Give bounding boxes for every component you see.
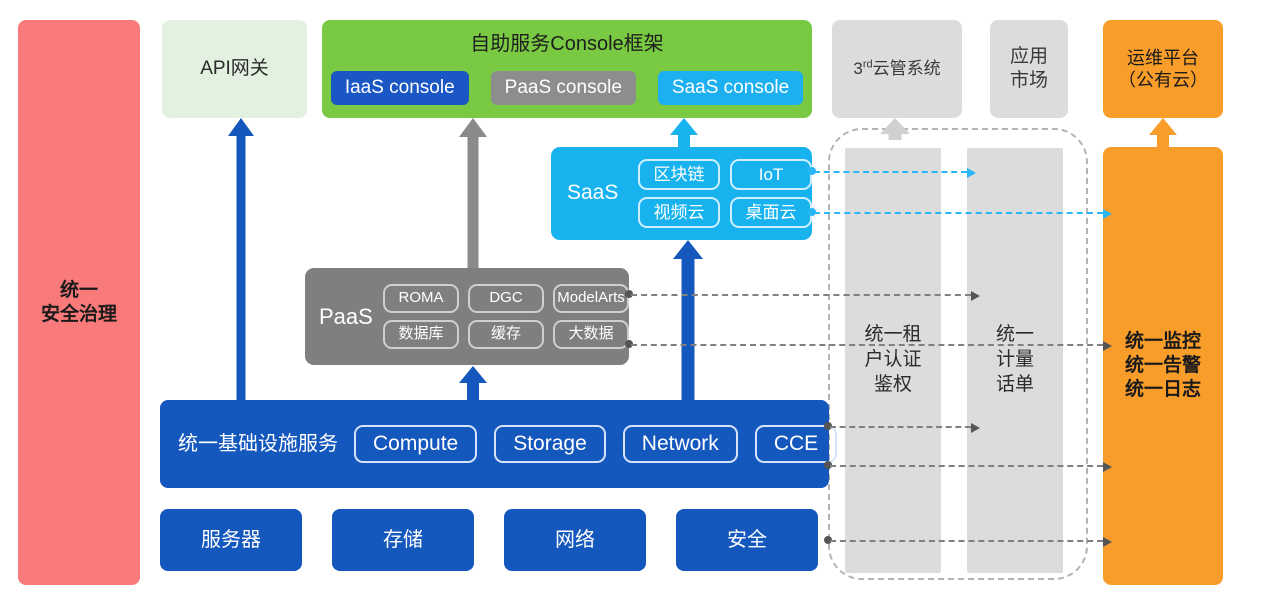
dashed-saas-to-ops <box>814 212 1103 214</box>
infra-service-network[interactable]: Network <box>623 425 738 463</box>
ops-platform-header-box[interactable]: 运维平台 （公有云） <box>1103 20 1223 118</box>
paas-service-database[interactable]: 数据库 <box>383 320 459 349</box>
resource-tile-server[interactable]: 服务器 <box>160 509 302 571</box>
resource-tile-network-label: 网络 <box>555 528 595 553</box>
architecture-diagram: 统一 安全治理 API网关 自助服务Console框架 IaaS console… <box>0 0 1265 605</box>
saas-service-desktop-cloud[interactable]: 桌面云 <box>730 197 812 228</box>
ordinal-superscript: rd <box>863 59 873 71</box>
chip-saas-console[interactable]: SaaS console <box>658 71 803 105</box>
paas-service-dgc[interactable]: DGC <box>468 284 544 313</box>
ops-platform-body-box[interactable]: 统一监控 统一告警 统一日志 <box>1103 147 1223 585</box>
dashed-paas-to-auth <box>631 294 971 296</box>
arrow-saas-to-console <box>670 118 698 148</box>
paas-service-bigdata[interactable]: 大数据 <box>553 320 629 349</box>
arrow-shared-to-third-party <box>880 118 910 140</box>
saas-service-blockchain[interactable]: 区块链 <box>638 159 720 190</box>
dashed-paas-to-ops <box>631 344 1103 346</box>
app-market-box[interactable]: 应用 市场 <box>990 20 1068 118</box>
arrow-paas-to-console <box>459 118 487 268</box>
console-chip-row: IaaS console PaaS console SaaS console <box>322 71 812 105</box>
arrow-infra-to-saas <box>673 240 703 400</box>
saas-layer-label: SaaS <box>567 180 638 206</box>
unified-tenant-auth-label: 统一租 户认证 鉴权 <box>864 323 921 397</box>
paas-service-roma[interactable]: ROMA <box>383 284 459 313</box>
dashed-saas-to-metering <box>814 171 967 173</box>
third-party-cloud-label: 3rd云管系统 <box>853 58 940 79</box>
security-governance-column[interactable]: 统一 安全治理 <box>18 20 140 585</box>
paas-service-grid: ROMA DGC ModelArts 数据库 缓存 大数据 <box>383 284 629 349</box>
paas-service-cache[interactable]: 缓存 <box>468 320 544 349</box>
saas-layer-block[interactable]: SaaS 区块链 IoT 视频云 桌面云 <box>551 147 812 240</box>
resource-tile-security[interactable]: 安全 <box>676 509 818 571</box>
paas-layer-block[interactable]: PaaS ROMA DGC ModelArts 数据库 缓存 大数据 <box>305 268 629 365</box>
saas-service-iot[interactable]: IoT <box>730 159 812 190</box>
unified-metering-label: 统一 计量 话单 <box>996 323 1034 397</box>
arrow-ops-body-to-header <box>1149 118 1177 148</box>
arrow-infra-to-api-gateway <box>228 118 254 400</box>
chip-iaas-console[interactable]: IaaS console <box>331 71 469 105</box>
infra-service-cce[interactable]: CCE <box>755 425 837 463</box>
arrow-infra-to-paas <box>459 366 487 400</box>
chip-paas-console[interactable]: PaaS console <box>491 71 636 105</box>
infra-service-storage[interactable]: Storage <box>494 425 606 463</box>
third-party-cloud-mgmt-box[interactable]: 3rd云管系统 <box>832 20 962 118</box>
api-gateway-label: API网关 <box>200 57 269 81</box>
resource-tile-storage-label: 存储 <box>383 528 423 553</box>
api-gateway-box[interactable]: API网关 <box>162 20 307 118</box>
app-market-label: 应用 市场 <box>1010 45 1048 93</box>
unified-infrastructure-bar[interactable]: 统一基础设施服务 Compute Storage Network CCE <box>160 400 829 488</box>
self-service-console-frame[interactable]: 自助服务Console框架 IaaS console PaaS console … <box>322 20 812 118</box>
resource-tile-network[interactable]: 网络 <box>504 509 646 571</box>
ops-platform-header-label: 运维平台 （公有云） <box>1118 47 1208 92</box>
security-governance-label: 统一 安全治理 <box>41 279 117 327</box>
infra-service-compute[interactable]: Compute <box>354 425 477 463</box>
resource-tile-security-label: 安全 <box>727 528 767 553</box>
resource-tile-server-label: 服务器 <box>201 528 261 553</box>
saas-service-video-cloud[interactable]: 视频云 <box>638 197 720 228</box>
ops-platform-body-label: 统一监控 统一告警 统一日志 <box>1125 330 1201 401</box>
resource-tile-storage[interactable]: 存储 <box>332 509 474 571</box>
saas-service-grid: 区块链 IoT 视频云 桌面云 <box>638 159 812 229</box>
console-frame-title: 自助服务Console框架 <box>322 20 812 57</box>
paas-service-modelarts[interactable]: ModelArts <box>553 284 629 313</box>
dashed-resources-to-ops <box>830 540 1103 542</box>
infrastructure-service-row: Compute Storage Network CCE <box>354 425 837 463</box>
dashed-infra-to-metering <box>830 426 971 428</box>
infrastructure-layer-label: 统一基础设施服务 <box>178 432 338 457</box>
dashed-infra-to-ops <box>830 465 1103 467</box>
paas-layer-label: PaaS <box>319 303 383 331</box>
